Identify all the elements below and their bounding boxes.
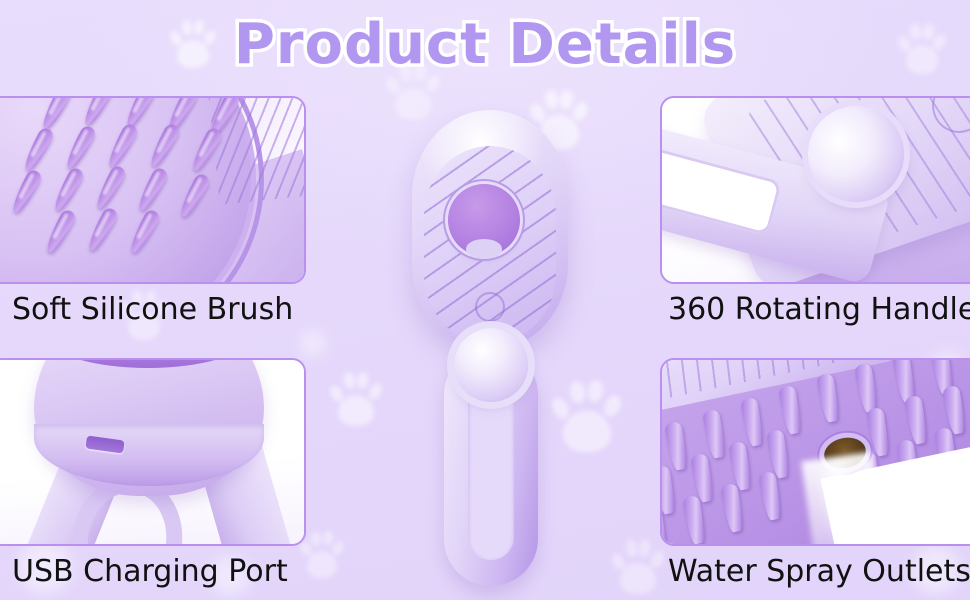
paw-pad <box>307 551 337 578</box>
rotating-handle-image <box>662 98 970 282</box>
page-title: Product Details <box>0 12 970 77</box>
product-indicator-circle <box>475 292 505 322</box>
bokeh-blob <box>300 330 326 356</box>
feature-image-frame <box>0 96 306 284</box>
paw-toe <box>331 540 346 557</box>
usb-charging-port-image <box>0 360 304 544</box>
paw-toe <box>356 371 370 389</box>
paw-print-icon <box>330 370 382 426</box>
paw-toe <box>384 75 403 96</box>
feature-image-frame <box>660 96 970 284</box>
feature-caption: 360 Rotating Handle <box>660 292 970 327</box>
water-tank-window <box>448 184 520 256</box>
paw-pad <box>620 563 655 594</box>
paw-toe <box>638 539 652 557</box>
feature-caption: USB Charging Port <box>0 554 306 589</box>
product-details-infographic: Product Details <box>0 0 970 600</box>
product-rotating-joint <box>454 328 528 402</box>
paw-toe <box>328 383 346 403</box>
paw-toe <box>342 371 356 389</box>
feature-image-frame <box>0 358 306 546</box>
paw-print-icon <box>300 530 344 578</box>
paw-toe <box>610 551 628 571</box>
hero-product-image <box>398 96 582 588</box>
paw-toe <box>624 539 638 557</box>
paw-toe <box>587 379 606 403</box>
paw-pad <box>338 395 373 426</box>
paw-toe <box>322 531 334 547</box>
soft-silicone-brush-image <box>0 98 304 282</box>
paw-toe <box>601 393 625 420</box>
water-spray-outlets-image <box>662 360 970 544</box>
paw-print-icon <box>612 538 664 594</box>
feature-caption: Soft Silicone Brush <box>0 292 306 327</box>
paw-toe <box>310 531 322 547</box>
paw-toe <box>366 381 384 401</box>
feature-image-frame <box>660 358 970 546</box>
feature-caption: Water Spray Outlets <box>660 554 970 589</box>
